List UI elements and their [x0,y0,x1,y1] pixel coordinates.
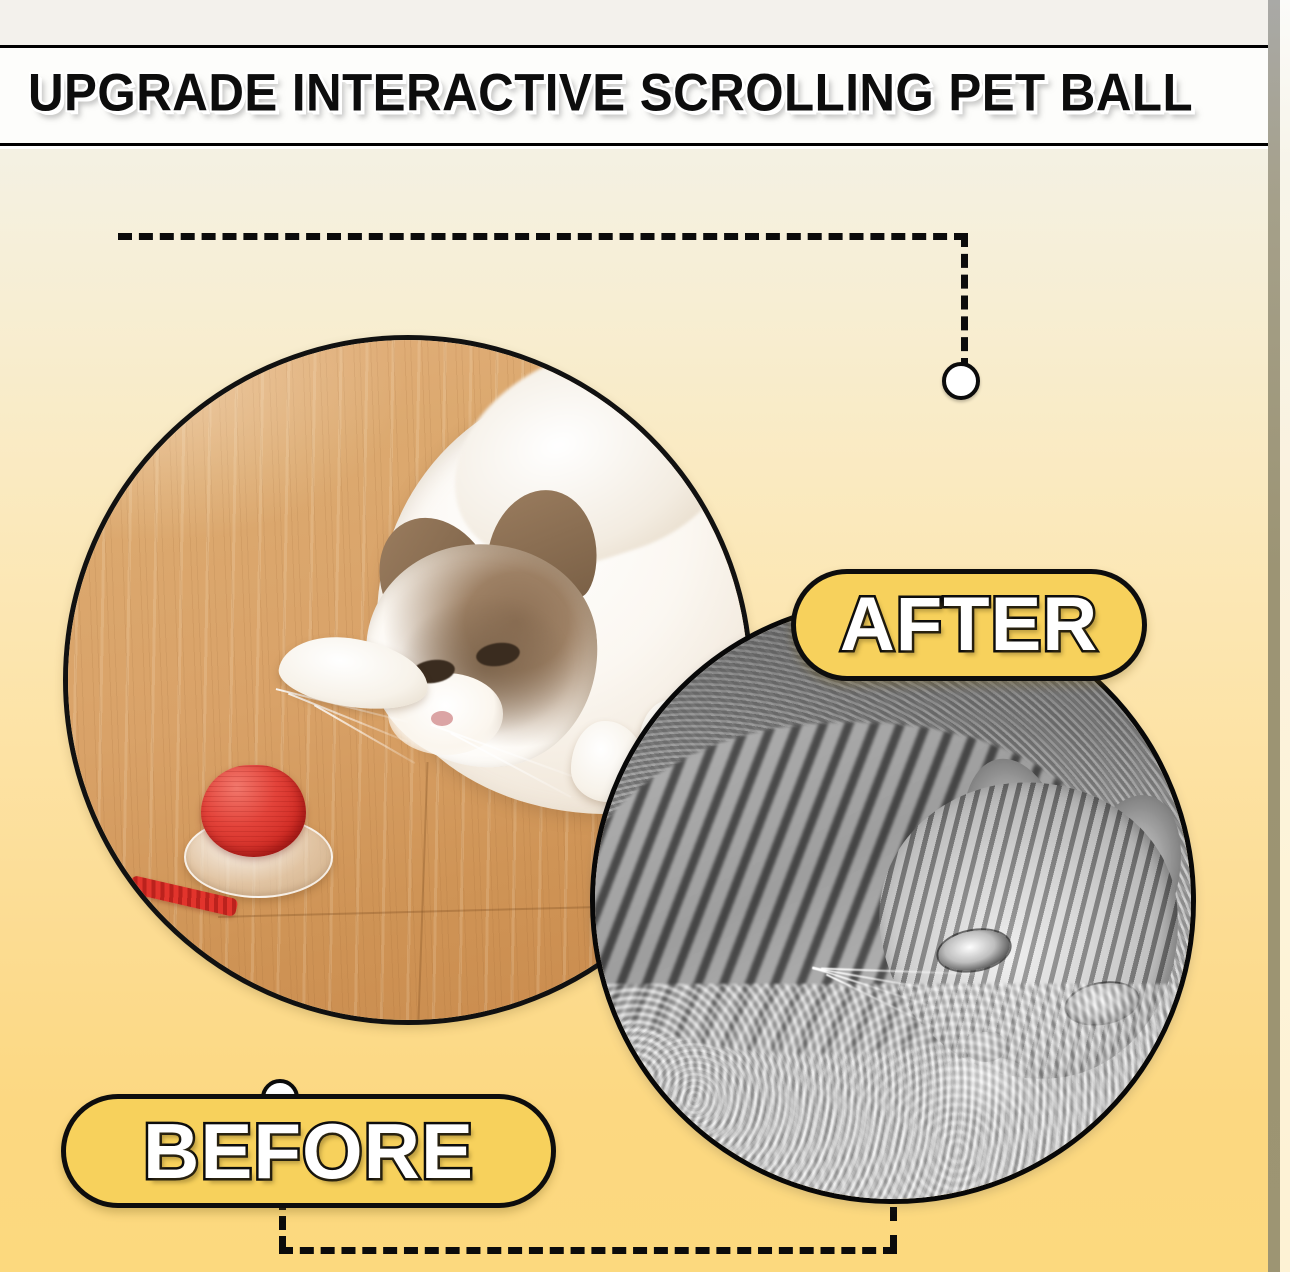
status-badge-after[interactable]: AFTER [791,569,1147,681]
status-badge-before[interactable]: BEFORE [61,1094,556,1208]
pet-ball-red-ball [201,765,306,857]
after-connector-dot [942,362,980,400]
carpet-pile-texture [590,984,1196,1204]
product-infographic: UPGRADE INTERACTIVE SCROLLING PET BALL [0,0,1290,1272]
before-connector-stub [890,1207,897,1249]
comparison-canvas: AFTER BEFORE YC YellowCult™ [0,149,1272,1272]
right-edge-highlight [1280,0,1290,1272]
after-connector-vertical [961,233,968,372]
after-connector-horizontal [118,233,968,240]
pet-ball-rope-knot [119,894,150,918]
status-badge-after-label: AFTER [840,587,1098,663]
status-badge-before-label: BEFORE [143,1112,474,1190]
ragdoll-cat-nose [431,711,453,726]
right-edge-stripe [1268,0,1280,1272]
page-title: UPGRADE INTERACTIVE SCROLLING PET BALL [28,64,1272,125]
before-photo[interactable] [590,598,1196,1204]
floor-highlight [63,335,408,544]
page-title-text: UPGRADE INTERACTIVE SCROLLING PET BALL [28,62,1193,123]
before-connector-horizontal [279,1247,897,1254]
title-banner: UPGRADE INTERACTIVE SCROLLING PET BALL [0,45,1272,146]
top-margin-band [0,0,1272,45]
